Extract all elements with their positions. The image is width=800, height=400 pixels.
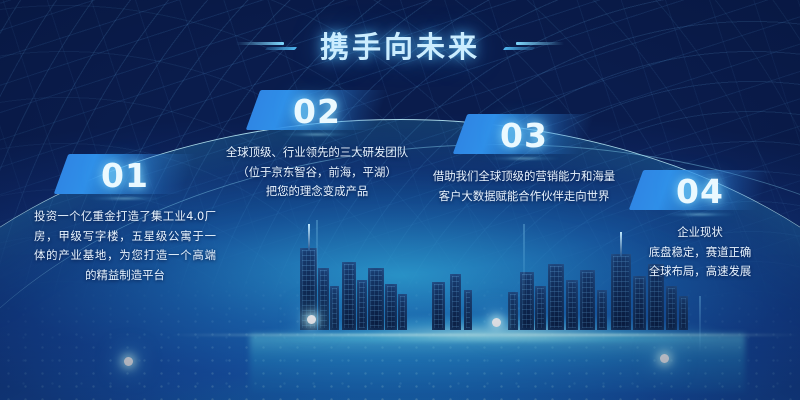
info-block-02[interactable]: 02 全球顶级、行业领先的三大研发团队 （位于京东智谷，前海，平湖） 把您的理念…	[214, 88, 420, 202]
badge-underglow-icon	[88, 197, 162, 200]
block-number: 02	[293, 92, 341, 131]
number-badge-01: 01	[34, 152, 216, 198]
badge-underglow-icon	[280, 133, 354, 136]
horizon-line	[170, 334, 800, 336]
block-description: 企业现状 底盘稳定，赛道正确 全球布局，高速发展	[612, 223, 788, 282]
slanted-dash-left-icon	[236, 41, 298, 50]
info-block-01[interactable]: 01 投资一个亿重金打造了集工业4.0厂房，甲级写字楼，五星级公寓于一体的产业基…	[34, 152, 216, 285]
block-description: 借助我们全球顶级的营销能力和海量 客户大数据赋能合作伙伴走向世界	[420, 167, 628, 206]
info-block-04[interactable]: 04 企业现状 底盘稳定，赛道正确 全球布局，高速发展	[612, 168, 788, 282]
glow-node-2	[307, 315, 316, 324]
glow-node-4	[660, 354, 669, 363]
block-description: 全球顶级、行业领先的三大研发团队 （位于京东智谷，前海，平湖） 把您的理念变成产…	[214, 143, 420, 202]
connector-stem	[524, 224, 525, 310]
badge-underglow-icon	[487, 157, 561, 160]
glow-node-3	[492, 318, 501, 327]
block-number: 04	[676, 172, 724, 211]
block-number: 03	[500, 116, 548, 155]
page-title-text: 携手向未来	[320, 24, 480, 66]
connector-stem	[700, 296, 701, 352]
block-description: 投资一个亿重金打造了集工业4.0厂房，甲级写字楼，五星级公寓于一体的产业基地，为…	[34, 207, 216, 285]
connector-stem	[317, 220, 318, 290]
number-badge-03: 03	[420, 112, 628, 158]
number-badge-04: 04	[612, 168, 788, 214]
slanted-dash-right-icon	[502, 41, 564, 50]
page-title: 携手向未来	[0, 24, 800, 66]
badge-underglow-icon	[663, 213, 737, 216]
number-badge-02: 02	[214, 88, 420, 134]
slide-canvas: 携手向未来 01 投资一个亿重金打造了集工业4.0厂房，甲级写字楼，五星级公寓于…	[0, 0, 800, 400]
info-block-03[interactable]: 03 借助我们全球顶级的营销能力和海量 客户大数据赋能合作伙伴走向世界	[420, 112, 628, 206]
block-number: 01	[101, 156, 149, 195]
city-reflection	[250, 334, 745, 392]
glow-node-1	[124, 357, 133, 366]
